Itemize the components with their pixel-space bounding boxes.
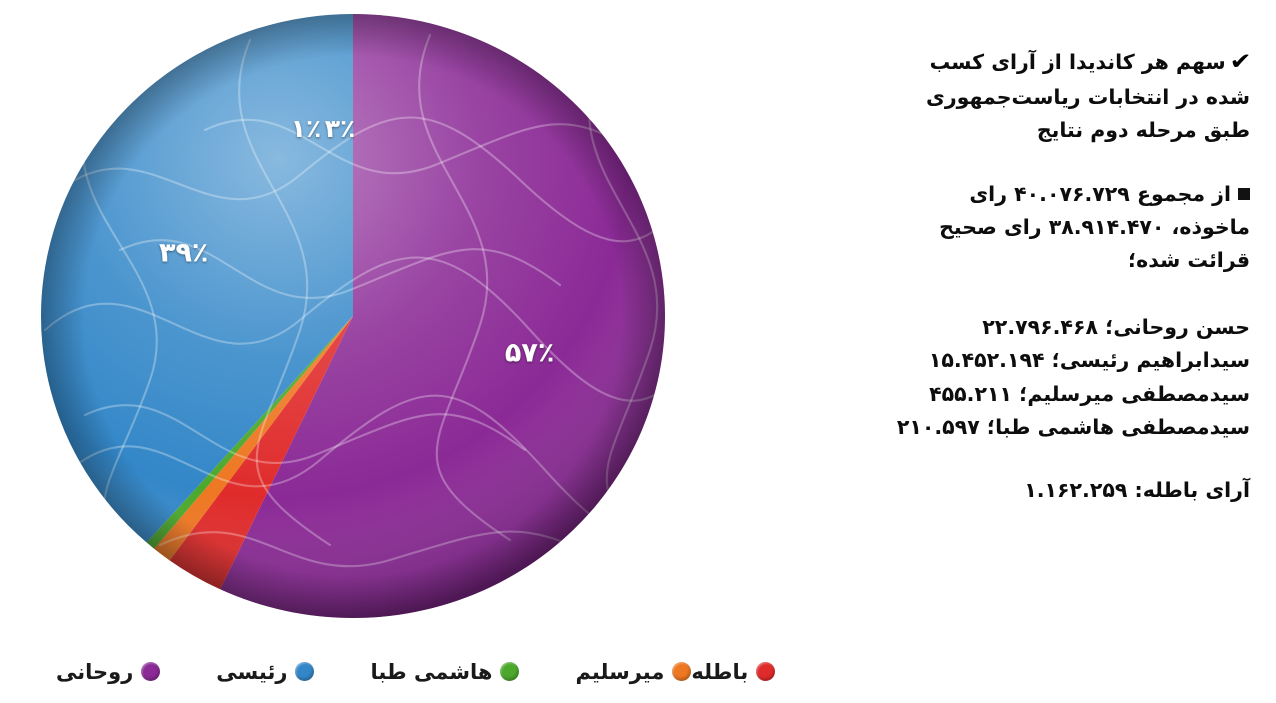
- legend-item[interactable]: هاشمی طبا: [370, 660, 519, 684]
- legend-item-label: باطله: [691, 660, 748, 684]
- pie-chart-area: ۵۷٪۳٪۱٪۳۹٪: [0, 0, 760, 640]
- info-panel: ✔سهم هر کاندیدا از آرای کسب شده در انتخا…: [888, 44, 1250, 507]
- pie-slice-label: ۵۷٪: [505, 338, 554, 369]
- pie-chart-svg: ۵۷٪۳٪۱٪۳۹٪: [0, 0, 760, 640]
- chart-legend: روحانیرئیسیهاشمی طبامیرسلیمباطله: [0, 640, 830, 703]
- legend-swatch-icon: [141, 662, 160, 681]
- legend-swatch-icon: [672, 662, 691, 681]
- pie-rim-shading: [41, 14, 665, 618]
- legend-item-label: روحانی: [56, 660, 133, 684]
- legend-item-label: هاشمی طبا: [370, 660, 492, 684]
- pie-slice-label: ۱٪: [291, 114, 322, 143]
- invalid-votes-text: آرای باطله: ۱.۱۶۲.۲۵۹: [888, 474, 1250, 507]
- pie-slice-label: ۳٪: [325, 114, 356, 143]
- pie-slice-label: ۳۹٪: [159, 238, 208, 269]
- legend-item-label: میرسلیم: [575, 660, 664, 684]
- totals-text: از مجموع ۴۰.۰۷۶.۷۲۹ رای ماخوذه، ۳۸.۹۱۴.۴…: [939, 182, 1250, 272]
- check-icon: ✔: [1229, 44, 1251, 81]
- legend-item[interactable]: میرسلیم: [575, 660, 691, 684]
- headline-block: ✔سهم هر کاندیدا از آرای کسب شده در انتخا…: [888, 44, 1250, 148]
- candidate-result-line: سیدمصطفی میرسلیم؛ ۴۵۵.۲۱۱: [888, 378, 1250, 411]
- candidate-result-line: سیدمصطفی هاشمی طبا؛ ۲۱۰.۵۹۷: [888, 411, 1250, 444]
- candidate-results-block: حسن روحانی؛ ۲۲.۷۹۶.۴۶۸سیدابراهیم رئیسی؛ …: [888, 311, 1250, 444]
- square-bullet-icon: [1238, 188, 1250, 200]
- candidate-result-line: حسن روحانی؛ ۲۲.۷۹۶.۴۶۸: [888, 311, 1250, 344]
- totals-block: از مجموع ۴۰.۰۷۶.۷۲۹ رای ماخوذه، ۳۸.۹۱۴.۴…: [888, 178, 1250, 278]
- legend-item[interactable]: رئیسی: [216, 660, 314, 684]
- legend-swatch-icon: [756, 662, 775, 681]
- legend-item-label: رئیسی: [216, 660, 287, 684]
- legend-swatch-icon: [295, 662, 314, 681]
- candidate-result-line: سیدابراهیم رئیسی؛ ۱۵.۴۵۲.۱۹۴: [888, 344, 1250, 377]
- headline-text: سهم هر کاندیدا از آرای کسب شده در انتخاب…: [926, 50, 1250, 142]
- legend-item[interactable]: باطله: [691, 660, 775, 684]
- legend-swatch-icon: [500, 662, 519, 681]
- legend-item[interactable]: روحانی: [56, 660, 160, 684]
